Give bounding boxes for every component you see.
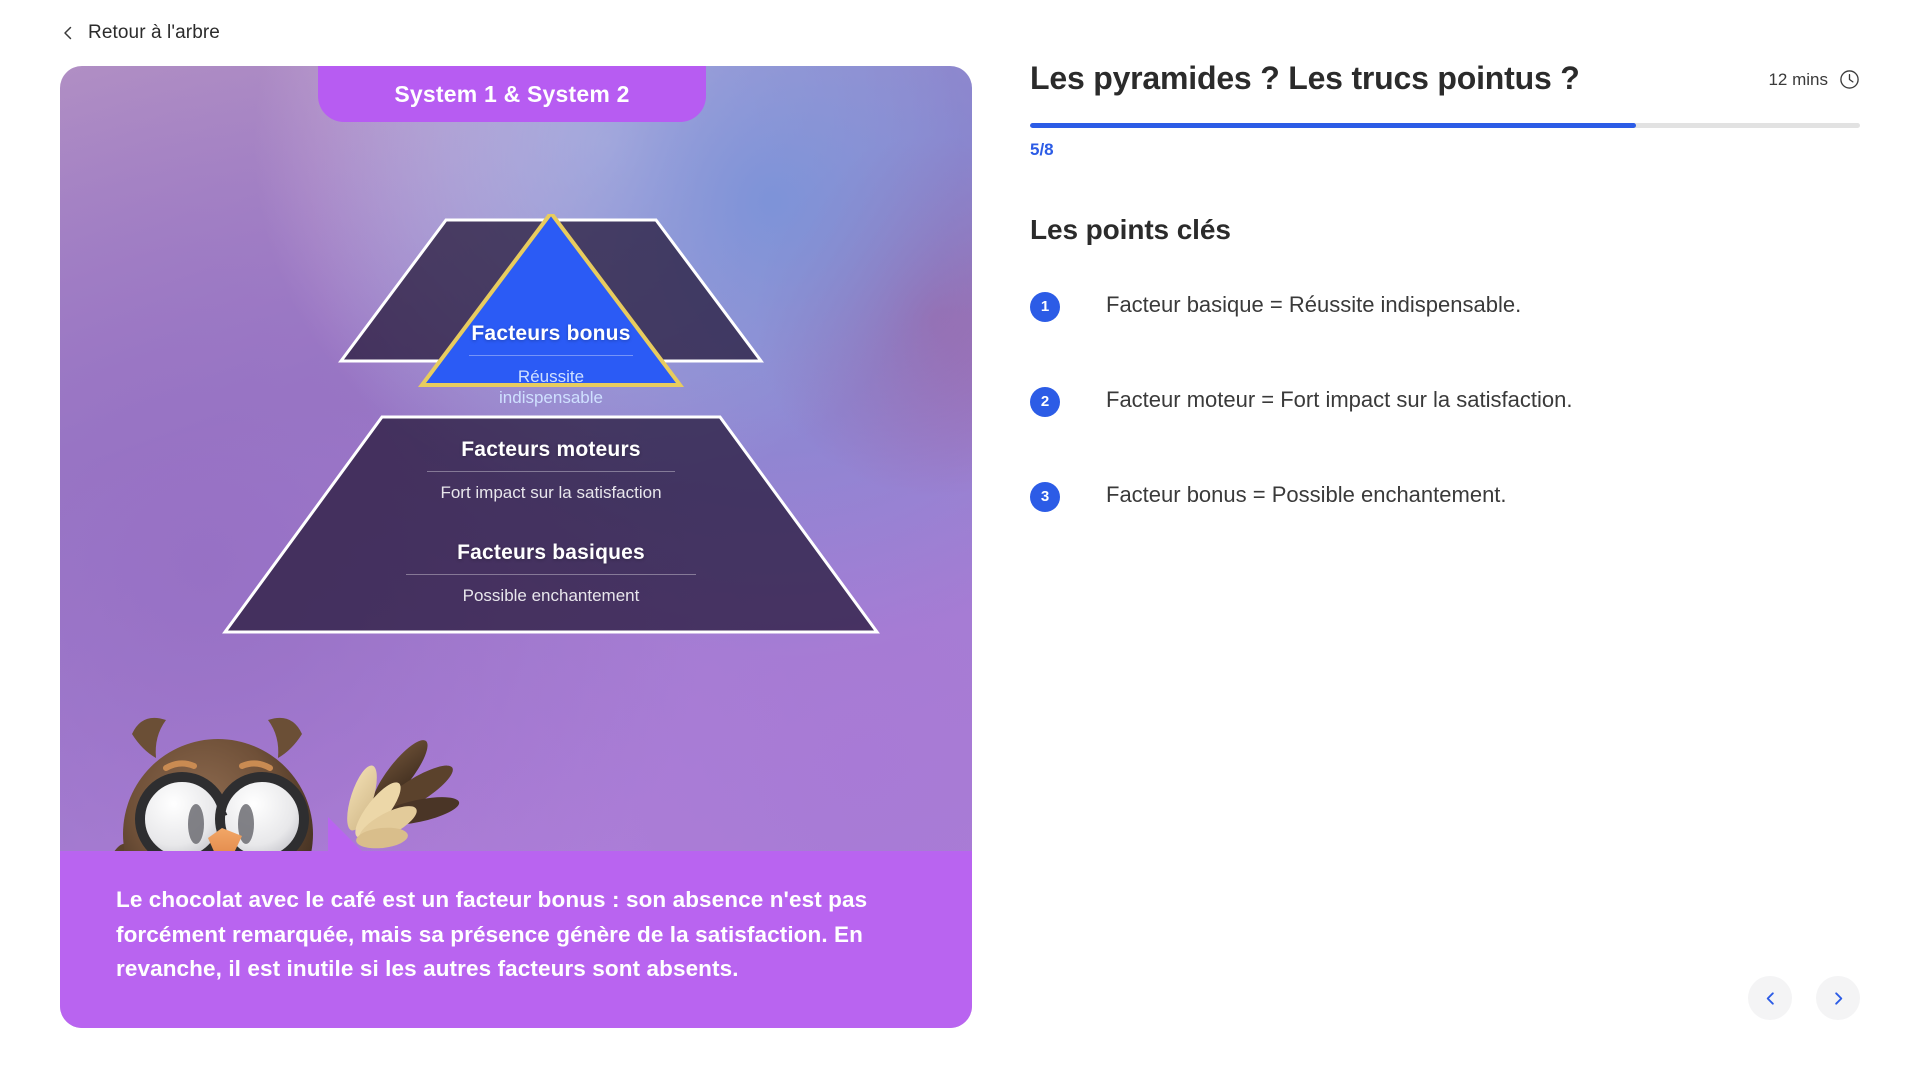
tier-title-bonus: Facteurs bonus [471,322,630,346]
lesson-header: Les pyramides ? Les trucs pointus ? 12 m… [1030,60,1860,97]
next-slide-button[interactable] [1816,976,1860,1020]
keypoint-badge: 2 [1030,387,1060,417]
keypoint-badge: 1 [1030,292,1060,322]
clock-icon [1839,69,1860,90]
tier-title-moteurs: Facteurs moteurs [461,438,640,462]
owl-ear-right [268,718,302,758]
pyramid-labels: Facteurs bonus Réussiteindispensable Fac… [206,214,896,666]
tier-subtitle-bonus: Réussiteindispensable [499,366,603,409]
chevron-left-icon [1763,991,1778,1006]
duration-indicator: 12 mins [1768,60,1860,90]
list-item: 1 Facteur basique = Réussite indispensab… [1030,290,1860,322]
duration-label: 12 mins [1768,70,1828,90]
keypoints-list: 1 Facteur basique = Réussite indispensab… [1030,290,1860,512]
chevron-left-icon [60,25,76,41]
chevron-right-icon [1831,991,1846,1006]
pyramid-label-moteurs: Facteurs moteurs Fort impact sur la sati… [206,438,896,503]
lesson-page: Retour à l'arbre System 1 & System 2 [0,0,1920,1080]
keypoint-text: Facteur basique = Réussite indispensable… [1106,290,1521,320]
pyramid-diagram: Facteurs bonus Réussiteindispensable Fac… [206,214,896,666]
tier-divider-bonus [469,355,633,356]
slide-navigation [1748,976,1860,1020]
pyramid-label-basiques: Facteurs basiques Possible enchantement [206,541,896,606]
keypoints-heading: Les points clés [1030,214,1860,246]
list-item: 3 Facteur bonus = Possible enchantement. [1030,480,1860,512]
topic-pill-label: System 1 & System 2 [394,81,629,108]
progress-bar [1030,123,1860,128]
tier-title-basiques: Facteurs basiques [457,541,645,565]
caption-text: Le chocolat avec le café est un facteur … [116,883,916,986]
list-item: 2 Facteur moteur = Fort impact sur la sa… [1030,385,1860,417]
media-card: System 1 & System 2 [60,66,972,1028]
caption-bubble: Le chocolat avec le café est un facteur … [60,851,972,1028]
tier-divider-moteurs [427,471,675,472]
tier-subtitle-basiques: Possible enchantement [463,585,640,606]
back-link-label: Retour à l'arbre [88,22,220,44]
topic-pill: System 1 & System 2 [318,66,706,122]
keypoint-badge: 3 [1030,482,1060,512]
tier-subtitle-moteurs: Fort impact sur la satisfaction [440,482,661,503]
keypoint-text: Facteur bonus = Possible enchantement. [1106,480,1507,510]
progress-bar-fill [1030,123,1636,128]
owl-ear-left [132,718,166,758]
keypoint-text: Facteur moteur = Fort impact sur la sati… [1106,385,1572,415]
back-to-tree-link[interactable]: Retour à l'arbre [60,22,220,44]
previous-slide-button[interactable] [1748,976,1792,1020]
progress-counter: 5/8 [1030,140,1860,160]
pyramid-label-bonus: Facteurs bonus Réussiteindispensable [206,322,896,409]
lesson-panel: Les pyramides ? Les trucs pointus ? 12 m… [1030,60,1860,575]
caption-tail [328,817,362,851]
tier-divider-basiques [406,574,696,575]
page-title: Les pyramides ? Les trucs pointus ? [1030,60,1580,97]
